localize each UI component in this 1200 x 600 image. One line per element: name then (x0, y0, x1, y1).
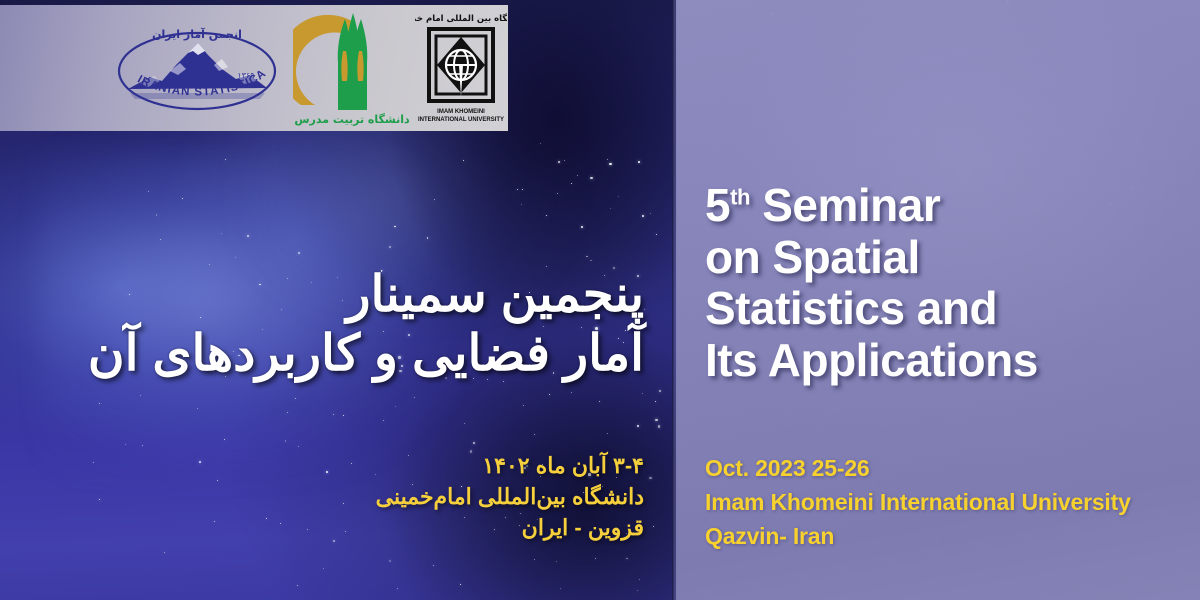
sponsor-logo-bar: انجمن آمار ایران ۱۳۶۹ IRANIAN STATISTICA… (0, 5, 508, 131)
english-title-line-1: 5th Seminar (705, 180, 1195, 232)
english-title-word: Seminar (762, 179, 940, 231)
persian-date: ۳-۴ آبان ماه ۱۴۰۲ (44, 450, 644, 481)
panel-divider (672, 0, 677, 600)
english-title-line-2: on Spatial (705, 232, 1195, 284)
english-title-line-3: Statistics and (705, 283, 1195, 335)
ordinal-suffix: th (730, 185, 750, 210)
iku-caption-line1: IMAM KHOMEINI (437, 109, 485, 115)
english-date: Oct. 2023 25-26 (705, 452, 1185, 486)
iss-script-label: انجمن آمار ایران (152, 27, 242, 41)
seminar-poster-banner: انجمن آمار ایران ۱۳۶۹ IRANIAN STATISTICA… (0, 0, 1200, 600)
imam-khomeini-international-university-logo: دانشگاه بین المللی امام خمینی IMAM KHOME… (415, 5, 507, 131)
persian-title-line-1: پنجمین سمینار (44, 268, 644, 321)
persian-details-block: ۳-۴ آبان ماه ۱۴۰۲ دانشگاه بین‌المللی اما… (44, 450, 644, 544)
ordinal-number: 5 (705, 179, 730, 231)
tarbiat-modares-university-logo: دانشگاه تربیت مدرس (293, 5, 411, 131)
english-location: Qazvin- Iran (705, 520, 1185, 554)
iku-caption-line2: INTERNATIONAL UNIVERSITY (418, 117, 504, 123)
persian-title-block: پنجمین سمینار آمار فضایی و کاربردهای آن (44, 268, 644, 380)
persian-venue: دانشگاه بین‌المللی امام‌خمینی (44, 481, 644, 512)
persian-location: قزوین - ایران (44, 512, 644, 543)
english-title-line-4: Its Applications (705, 335, 1195, 387)
persian-title-line-2: آمار فضایی و کاربردهای آن (44, 327, 644, 380)
english-venue: Imam Khomeini International University (705, 486, 1185, 520)
iku-script-label: دانشگاه بین المللی امام خمینی (415, 13, 507, 24)
tmu-script-label: دانشگاه تربیت مدرس (294, 113, 410, 126)
english-title-block: 5th Seminar on Spatial Statistics and It… (705, 180, 1195, 386)
english-details-block: Oct. 2023 25-26 Imam Khomeini Internatio… (705, 452, 1185, 553)
iranian-statistical-society-logo: انجمن آمار ایران ۱۳۶۹ IRANIAN STATISTICA… (110, 5, 285, 131)
